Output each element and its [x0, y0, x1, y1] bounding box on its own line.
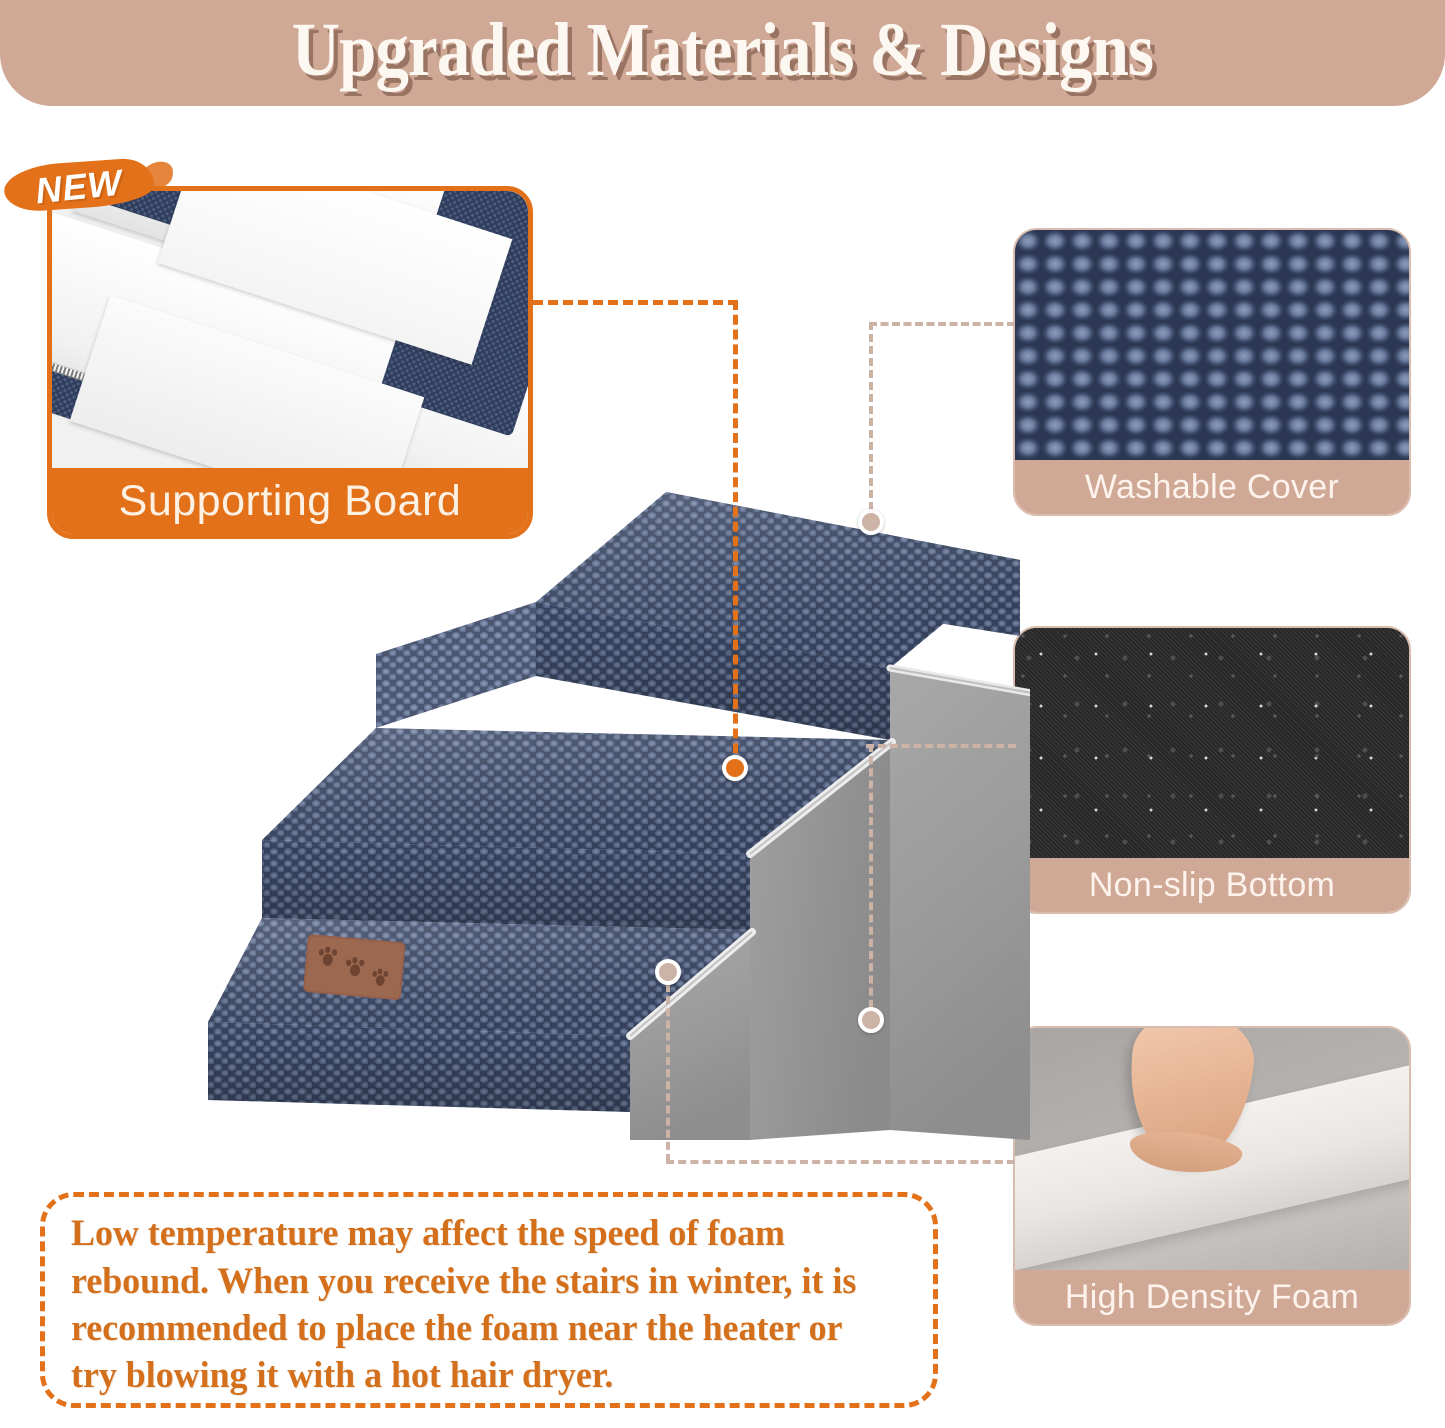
non-slip-bottom-label-bar: Non-slip Bottom — [1015, 858, 1409, 912]
non-slip-texture — [1015, 628, 1409, 858]
note-text: Low temperature may affect the speed of … — [71, 1210, 882, 1399]
connector-dot-supporting-board — [722, 755, 748, 781]
washable-cover-photo — [1015, 230, 1409, 460]
pet-stairs-illustration — [200, 440, 1030, 1140]
washable-cover-label-bar: Washable Cover — [1015, 460, 1409, 514]
washable-cover-label: Washable Cover — [1085, 468, 1339, 507]
panel-high-density-foam: High Density Foam — [1013, 1026, 1411, 1326]
connector-dot-high-density-foam — [655, 959, 681, 985]
connector-line-non-slip-horizontal — [866, 744, 1016, 748]
high-density-foam-label: High Density Foam — [1065, 1278, 1359, 1317]
connector-line-supporting-board-vertical — [733, 300, 738, 768]
fabric-texture — [1015, 230, 1409, 460]
non-slip-bottom-label: Non-slip Bottom — [1089, 866, 1335, 905]
product-image-pet-stairs — [200, 440, 1030, 1140]
page-title: Upgraded Materials & Designs — [292, 12, 1153, 94]
new-badge-label: NEW — [1, 148, 157, 225]
note-box-cold-weather: Low temperature may affect the speed of … — [40, 1192, 938, 1408]
connector-line-foam-vertical — [666, 972, 670, 1162]
non-slip-bottom-photo — [1015, 628, 1409, 858]
foam-texture — [1015, 1028, 1409, 1270]
connector-line-non-slip-vertical — [869, 744, 873, 1020]
paw-tag — [303, 934, 406, 1000]
hand-icon — [1122, 1028, 1259, 1169]
connector-line-supporting-board-horizontal — [533, 300, 738, 305]
high-density-foam-label-bar: High Density Foam — [1015, 1270, 1409, 1324]
supporting-board-photo — [52, 191, 528, 468]
panel-washable-cover: Washable Cover — [1013, 228, 1411, 516]
panel-non-slip-bottom: Non-slip Bottom — [1013, 626, 1411, 914]
connector-line-washable-cover-horizontal — [869, 322, 1015, 326]
connector-line-washable-cover-vertical — [869, 322, 873, 522]
high-density-foam-photo — [1015, 1028, 1409, 1270]
connector-dot-non-slip-bottom — [858, 1007, 884, 1033]
header-banner: Upgraded Materials & Designs — [0, 0, 1445, 106]
new-badge: NEW — [4, 156, 154, 218]
connector-line-foam-horizontal — [666, 1160, 1015, 1164]
connector-dot-washable-cover — [858, 509, 884, 535]
